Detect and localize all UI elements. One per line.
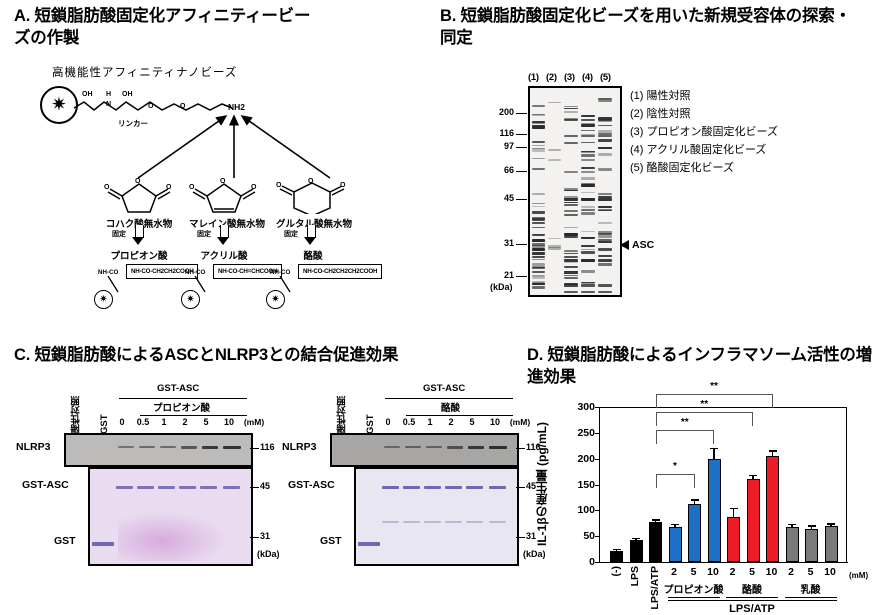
asc-pointer-icon xyxy=(620,240,629,250)
marker-label-31: 31 xyxy=(484,238,514,248)
group-label-1: 酪酸 xyxy=(742,581,762,596)
panel-d-label: D. xyxy=(527,346,543,364)
kda-unit-label-b: (kDa) xyxy=(490,282,513,292)
error-cap xyxy=(827,523,835,525)
gel-band xyxy=(532,114,545,115)
x-tick-label-3: 2 xyxy=(671,566,677,578)
gel-band-strong xyxy=(598,284,612,287)
mm-unit-label: (mM) xyxy=(242,417,266,427)
cbb-gst-asc-band xyxy=(489,486,506,489)
y-tick-mark-250 xyxy=(595,433,600,434)
error-bar xyxy=(830,525,832,527)
significance-bracket-3 xyxy=(656,394,773,408)
y-tick-mark-100 xyxy=(595,510,600,511)
error-bar xyxy=(811,527,813,530)
concentration-label-1: 0.5 xyxy=(134,417,152,427)
gel-band xyxy=(564,202,578,203)
gel-band xyxy=(564,256,578,258)
cbb-faint-band xyxy=(382,521,399,523)
gel-band-strong xyxy=(581,119,595,121)
cbb-gst-asc-band xyxy=(116,486,133,489)
gel-band xyxy=(581,115,595,118)
panel-a-subtitle: 高機能性アフィニティナノビーズ xyxy=(52,64,237,80)
concentration-label-5: 10 xyxy=(486,417,504,427)
panel-b-label: B. xyxy=(440,7,456,25)
gel-band xyxy=(598,100,612,102)
y-tick-mark-50 xyxy=(595,536,600,537)
gel-band-strong xyxy=(581,291,595,293)
significance-mark-3: ** xyxy=(710,381,718,392)
acid-header: 酪酸 xyxy=(441,400,460,414)
acid-name-0: プロピオン酸 xyxy=(96,248,182,262)
marker-label-116: 116 xyxy=(260,442,275,452)
marker-tick-31 xyxy=(516,244,527,245)
gel-lane-5 xyxy=(597,88,613,295)
bar-5 xyxy=(688,504,701,562)
x-tick-label-11: 10 xyxy=(824,566,836,578)
legend-item-4: (4) アクリル酸固定化ビーズ xyxy=(630,142,778,160)
gel-band xyxy=(564,111,578,113)
gel-band xyxy=(532,121,545,124)
cbb-faint-band xyxy=(424,521,441,523)
panel-d: D. 短鎖脂肪酸によるインフラマソーム活性の増進効果 IL-1βの産生量 (pg… xyxy=(527,345,877,607)
bar-2 xyxy=(669,527,682,562)
gel-band xyxy=(532,271,545,272)
western-band xyxy=(118,446,134,448)
gel-band-strong xyxy=(598,198,612,201)
marker-label-45: 45 xyxy=(260,481,270,491)
error-bar xyxy=(616,550,618,551)
western-band xyxy=(160,446,176,448)
gel-band xyxy=(581,124,595,127)
gel-lane-1 xyxy=(531,88,546,295)
positive-control-label: 陽性対照 xyxy=(70,382,84,434)
svg-text:O: O xyxy=(180,103,186,110)
gel-band xyxy=(532,126,545,129)
x-tick-label-4: 5 xyxy=(691,566,697,578)
panel-c: C. 短鎖脂肪酸によるASCとNLRP3との結合促進効果 陽性対照GSTGST-… xyxy=(14,345,514,607)
concentration-label-4: 5 xyxy=(463,417,481,427)
cbb-gst-asc-band xyxy=(445,486,462,489)
svg-text:OH: OH xyxy=(122,91,133,98)
fix-label-2: 固定 xyxy=(284,229,298,239)
svg-text:O: O xyxy=(340,182,346,189)
asc-band-label: ASC xyxy=(632,239,654,251)
gel-band xyxy=(532,168,545,170)
gel-band xyxy=(564,227,578,229)
gel-band xyxy=(532,252,545,255)
panel-a: A. 短鎖脂肪酸固定化アフィニティービーズの作製 高機能性アフィニティナノビーズ… xyxy=(14,6,430,316)
error-cap xyxy=(710,448,718,450)
concentration-label-4: 5 xyxy=(197,417,215,427)
gel-band xyxy=(548,149,561,151)
marker-tick-45 xyxy=(516,199,527,200)
marker-tick-45 xyxy=(516,487,525,488)
bar-(-) xyxy=(610,551,623,562)
x-tick-label-6: 2 xyxy=(730,566,736,578)
cbb-gst-asc-band xyxy=(200,486,217,489)
error-bar xyxy=(772,452,774,456)
gel-band-strong xyxy=(564,259,578,262)
gel-band xyxy=(532,256,545,257)
x-tick-label-LPS: LPS xyxy=(629,566,641,586)
gel-band xyxy=(564,250,578,252)
gel-band xyxy=(581,209,595,211)
marker-label-200: 200 xyxy=(484,107,514,117)
cbb-faint-band xyxy=(445,521,462,523)
acid-name-1: アクリル酸 xyxy=(181,248,267,262)
gel-band xyxy=(532,259,545,260)
gel-band xyxy=(564,214,578,216)
gel-band xyxy=(548,102,561,103)
cbb-faint-band xyxy=(489,521,506,523)
y-tick-mark-150 xyxy=(595,485,600,486)
nanobead-small-icon-1: ✷ xyxy=(181,290,200,309)
error-cap xyxy=(691,499,699,501)
lps-atp-group-underline xyxy=(668,600,837,601)
group-underline-2 xyxy=(785,597,837,598)
x-tick-label-7: 5 xyxy=(749,566,755,578)
gel-smear xyxy=(118,511,228,561)
gel-band-strong xyxy=(564,291,578,293)
western-band xyxy=(468,446,484,449)
gst-lane-label: GST xyxy=(365,400,376,434)
cbb-gst-asc-band xyxy=(424,486,441,489)
concentration-label-3: 2 xyxy=(442,417,460,427)
lps-atp-group-label: LPS/ATP xyxy=(729,603,775,615)
gst-asc-row-label: GST-ASC xyxy=(288,479,335,491)
significance-bracket-0 xyxy=(656,474,695,488)
gel-band-strong xyxy=(564,135,578,137)
gel-band xyxy=(581,183,595,184)
lane-header-1: (1) xyxy=(528,72,539,83)
acid-header: プロピオン酸 xyxy=(153,400,210,414)
gel-band xyxy=(581,154,595,157)
nanobead-small-icon-2: ✷ xyxy=(266,290,285,309)
nhco-prefix-2: NH-CO xyxy=(270,269,290,276)
gel-band xyxy=(564,277,578,279)
cbb-gst-asc-band xyxy=(466,486,483,489)
gel-band-strong xyxy=(598,135,612,137)
x-tick-label-LPS/ATP: LPS/ATP xyxy=(649,566,661,610)
bar-10 xyxy=(766,456,779,562)
error-bar xyxy=(713,449,715,458)
panel-b: B. 短鎖脂肪酸固定化ビーズを用いた新規受容体の探索・同定 (1)(2)(3)(… xyxy=(440,6,870,316)
marker-label-45: 45 xyxy=(484,193,514,203)
error-bar xyxy=(635,539,637,540)
error-cap xyxy=(788,524,796,526)
cbb-gel-image xyxy=(88,467,253,566)
gst-lane-label: GST xyxy=(99,400,110,434)
marker-tick-45 xyxy=(250,487,259,488)
gel-band-strong xyxy=(564,198,578,201)
error-cap xyxy=(808,525,816,527)
cbb-gst-band xyxy=(358,542,380,546)
x-tick-label-9: 2 xyxy=(788,566,794,578)
gel-band xyxy=(581,212,595,215)
gel-band xyxy=(598,125,612,127)
lane-header-5: (5) xyxy=(600,72,611,83)
gel-band-strong xyxy=(598,259,612,262)
bar-5 xyxy=(805,529,818,562)
bar-2 xyxy=(786,527,799,562)
marker-label-31: 31 xyxy=(260,531,270,541)
gel-band xyxy=(532,248,545,251)
gel-band xyxy=(548,238,561,239)
gel-band xyxy=(532,145,545,146)
gel-band xyxy=(581,231,595,232)
glutaric-anhydride-structure-icon: O O O xyxy=(276,178,348,214)
gel-band xyxy=(532,286,545,289)
bar-10 xyxy=(825,526,838,562)
gel-band xyxy=(598,235,612,238)
western-band xyxy=(384,446,400,448)
error-cap xyxy=(769,450,777,452)
gel-band xyxy=(564,236,578,238)
gst-asc-underline xyxy=(385,398,513,399)
gel-image-panel-b xyxy=(528,86,622,297)
lane-header-3: (3) xyxy=(564,72,575,83)
gel-band xyxy=(581,177,595,180)
error-bar xyxy=(674,525,676,527)
gel-band xyxy=(581,251,595,254)
gel-band-strong xyxy=(581,259,595,262)
gel-lane-3 xyxy=(563,88,579,295)
significance-bracket-1 xyxy=(656,430,715,444)
nlrp3-row-label: NLRP3 xyxy=(16,441,50,453)
gel-band xyxy=(532,222,545,224)
bar-5 xyxy=(747,479,760,562)
bar-LPS/ATP xyxy=(649,522,662,562)
gel-band xyxy=(532,203,545,204)
svg-text:O: O xyxy=(220,178,226,185)
group-underline-1 xyxy=(726,597,778,598)
cbb-gst-asc-band xyxy=(223,486,240,489)
gel-band xyxy=(581,123,595,124)
positive-control-label: 陽性対照 xyxy=(336,382,350,434)
gel-band-strong xyxy=(581,135,595,137)
gel-band xyxy=(564,275,578,276)
acid-name-2: 酪酸 xyxy=(270,248,356,262)
gel-band xyxy=(564,108,578,110)
gel-band xyxy=(564,190,578,191)
cbb-faint-band xyxy=(466,521,483,523)
gel-band xyxy=(564,266,578,269)
panel-d-title: D. 短鎖脂肪酸によるインフラマソーム活性の増進効果 xyxy=(527,345,872,389)
gel-band xyxy=(581,270,595,272)
y-tick-mark-200 xyxy=(595,459,600,460)
gel-band xyxy=(548,245,561,248)
blot-group-1: 陽性対照GSTGST-ASCプロピオン酸00.512510(mM)NLRP311… xyxy=(14,345,264,575)
acid-underline xyxy=(406,415,513,416)
marker-tick-21 xyxy=(516,276,527,277)
panel-a-title-text: 短鎖脂肪酸固定化アフィニティービーズの作製 xyxy=(14,7,310,47)
gel-band-strong xyxy=(581,198,595,201)
panel-d-title-text: 短鎖脂肪酸によるインフラマソーム活性の増進効果 xyxy=(527,346,872,386)
error-bar xyxy=(791,525,793,527)
x-tick-label-8: 10 xyxy=(766,566,778,578)
gel-band xyxy=(532,211,545,214)
error-bar xyxy=(733,509,735,516)
cbb-faint-band xyxy=(403,521,420,523)
x-tick-label-5: 10 xyxy=(707,566,719,578)
nhco-prefix-1: NH-CO xyxy=(185,269,205,276)
fix-label-1: 固定 xyxy=(197,229,211,239)
gel-band xyxy=(581,171,595,173)
gel-band xyxy=(598,148,612,149)
gel-band xyxy=(564,106,578,107)
y-tick-mark-0 xyxy=(595,562,600,563)
gst-asc-header: GST-ASC xyxy=(423,383,465,394)
svg-text:O: O xyxy=(148,103,154,110)
marker-tick-97 xyxy=(516,147,527,148)
gel-band xyxy=(532,277,545,279)
gel-band xyxy=(532,284,545,285)
acid-underline xyxy=(140,415,247,416)
error-cap xyxy=(632,538,640,540)
marker-label-97: 97 xyxy=(484,141,514,151)
y-tick-mark-300 xyxy=(595,407,600,408)
gel-band xyxy=(581,167,595,169)
western-band xyxy=(447,446,463,449)
marker-tick-116 xyxy=(516,134,527,135)
gel-band xyxy=(581,159,595,161)
error-cap xyxy=(613,549,621,551)
gel-band xyxy=(532,206,545,207)
gel-band xyxy=(581,130,595,131)
x-tick-label-10: 5 xyxy=(808,566,814,578)
panel-b-legend: (1) 陽性対照(2) 陰性対照(3) プロピオン酸固定化ビーズ(4) アクリル… xyxy=(630,88,778,178)
gst-row-label: GST xyxy=(320,535,342,547)
error-bar xyxy=(694,501,696,504)
western-band xyxy=(489,446,507,449)
gel-band xyxy=(598,206,612,209)
cbb-gel-image xyxy=(354,467,519,566)
gel-band xyxy=(532,149,545,152)
convergence-arrows-icon xyxy=(106,110,346,182)
concentration-label-0: 0 xyxy=(379,417,397,427)
legend-item-5: (5) 酪酸固定化ビーズ xyxy=(630,160,778,178)
gel-band xyxy=(532,193,545,195)
gel-band-strong xyxy=(564,119,578,121)
western-band xyxy=(202,446,218,449)
svg-text:OH: OH xyxy=(82,91,93,98)
concentration-label-2: 1 xyxy=(155,417,173,427)
marker-label-66: 66 xyxy=(484,165,514,175)
marker-tick-31 xyxy=(516,537,525,538)
marker-tick-31 xyxy=(250,537,259,538)
svg-text:O: O xyxy=(189,184,195,191)
marker-label-116: 116 xyxy=(484,128,514,138)
group-label-2: 乳酸 xyxy=(801,581,821,596)
gel-band xyxy=(598,241,612,243)
svg-text:N: N xyxy=(106,101,111,108)
gel-band xyxy=(564,210,578,212)
gel-band xyxy=(598,193,612,195)
significance-bracket-2 xyxy=(656,412,754,426)
panel-b-title: B. 短鎖脂肪酸固定化ビーズを用いた新規受容体の探索・同定 xyxy=(440,6,860,50)
cbb-gst-asc-band xyxy=(179,486,196,489)
gel-band xyxy=(581,245,595,247)
formula-box-2: NH-CO-CH2CH2CH2COOH xyxy=(298,264,382,279)
western-band xyxy=(426,446,442,448)
legend-item-1: (1) 陽性対照 xyxy=(630,88,778,106)
panel-a-label: A. xyxy=(14,7,30,25)
gel-band-strong xyxy=(581,284,595,287)
gel-band xyxy=(598,139,612,142)
maleic-anhydride-structure-icon: O O O xyxy=(189,178,259,214)
gst-asc-row-label: GST-ASC xyxy=(22,479,69,491)
gel-band xyxy=(548,159,561,162)
gel-band xyxy=(581,142,595,144)
gel-band-strong xyxy=(564,284,578,287)
panel-a-title: A. 短鎖脂肪酸固定化アフィニティービーズの作製 xyxy=(14,6,314,50)
bar-LPS xyxy=(630,540,643,562)
legend-item-2: (2) 陰性対照 xyxy=(630,106,778,124)
marker-tick-200 xyxy=(516,113,527,114)
gel-band xyxy=(564,204,578,206)
error-cap xyxy=(652,519,660,521)
gel-band xyxy=(581,282,595,283)
svg-text:H: H xyxy=(106,91,111,98)
nhco-prefix-0: NH-CO xyxy=(98,269,118,276)
gel-band xyxy=(532,218,545,220)
western-band xyxy=(181,446,197,449)
group-underline-0 xyxy=(668,597,720,598)
gel-band-strong xyxy=(598,291,612,293)
error-bar xyxy=(752,476,754,479)
svg-text:O: O xyxy=(166,184,172,191)
svg-text:O: O xyxy=(251,184,257,191)
kda-unit-label: (kDa) xyxy=(257,549,280,559)
concentration-label-3: 2 xyxy=(176,417,194,427)
gel-band xyxy=(532,105,545,107)
y-axis-label: IL-1βの産生量 (pg/mL) xyxy=(533,407,550,562)
western-blot-strip xyxy=(64,433,253,467)
error-cap xyxy=(749,475,757,477)
cbb-gst-asc-band xyxy=(137,486,154,489)
gst-asc-header: GST-ASC xyxy=(157,383,199,394)
gel-band xyxy=(532,267,545,270)
svg-text:O: O xyxy=(104,184,110,191)
gel-band xyxy=(532,227,545,229)
concentration-label-2: 1 xyxy=(421,417,439,427)
bar-10 xyxy=(708,459,721,562)
error-cap xyxy=(671,524,679,526)
concentration-label-0: 0 xyxy=(113,417,131,427)
blot-group-2: 陽性対照GSTGST-ASC酪酸00.512510(mM)NLRP3116GST… xyxy=(280,345,530,575)
svg-text:O: O xyxy=(276,182,282,189)
western-blot-strip xyxy=(330,433,519,467)
cbb-gst-asc-band xyxy=(382,486,399,489)
marker-label-21: 21 xyxy=(484,270,514,280)
gel-band xyxy=(532,158,545,159)
x-tick-label-(-): (-) xyxy=(610,566,622,577)
svg-text:O: O xyxy=(308,178,314,185)
group-label-0: プロピオン酸 xyxy=(664,581,724,596)
lane-header-4: (4) xyxy=(582,72,593,83)
panel-b-title-text: 短鎖脂肪酸固定化ビーズを用いた新規受容体の探索・同定 xyxy=(440,7,851,47)
western-band xyxy=(223,446,241,449)
gel-band xyxy=(598,222,612,224)
western-band xyxy=(405,446,421,448)
western-band xyxy=(139,446,155,448)
gel-lane-2 xyxy=(547,88,562,295)
marker-tick-66 xyxy=(516,171,527,172)
mm-unit-label: (mM) xyxy=(849,571,868,580)
gel-band xyxy=(564,271,578,273)
svg-text:O: O xyxy=(135,178,141,185)
